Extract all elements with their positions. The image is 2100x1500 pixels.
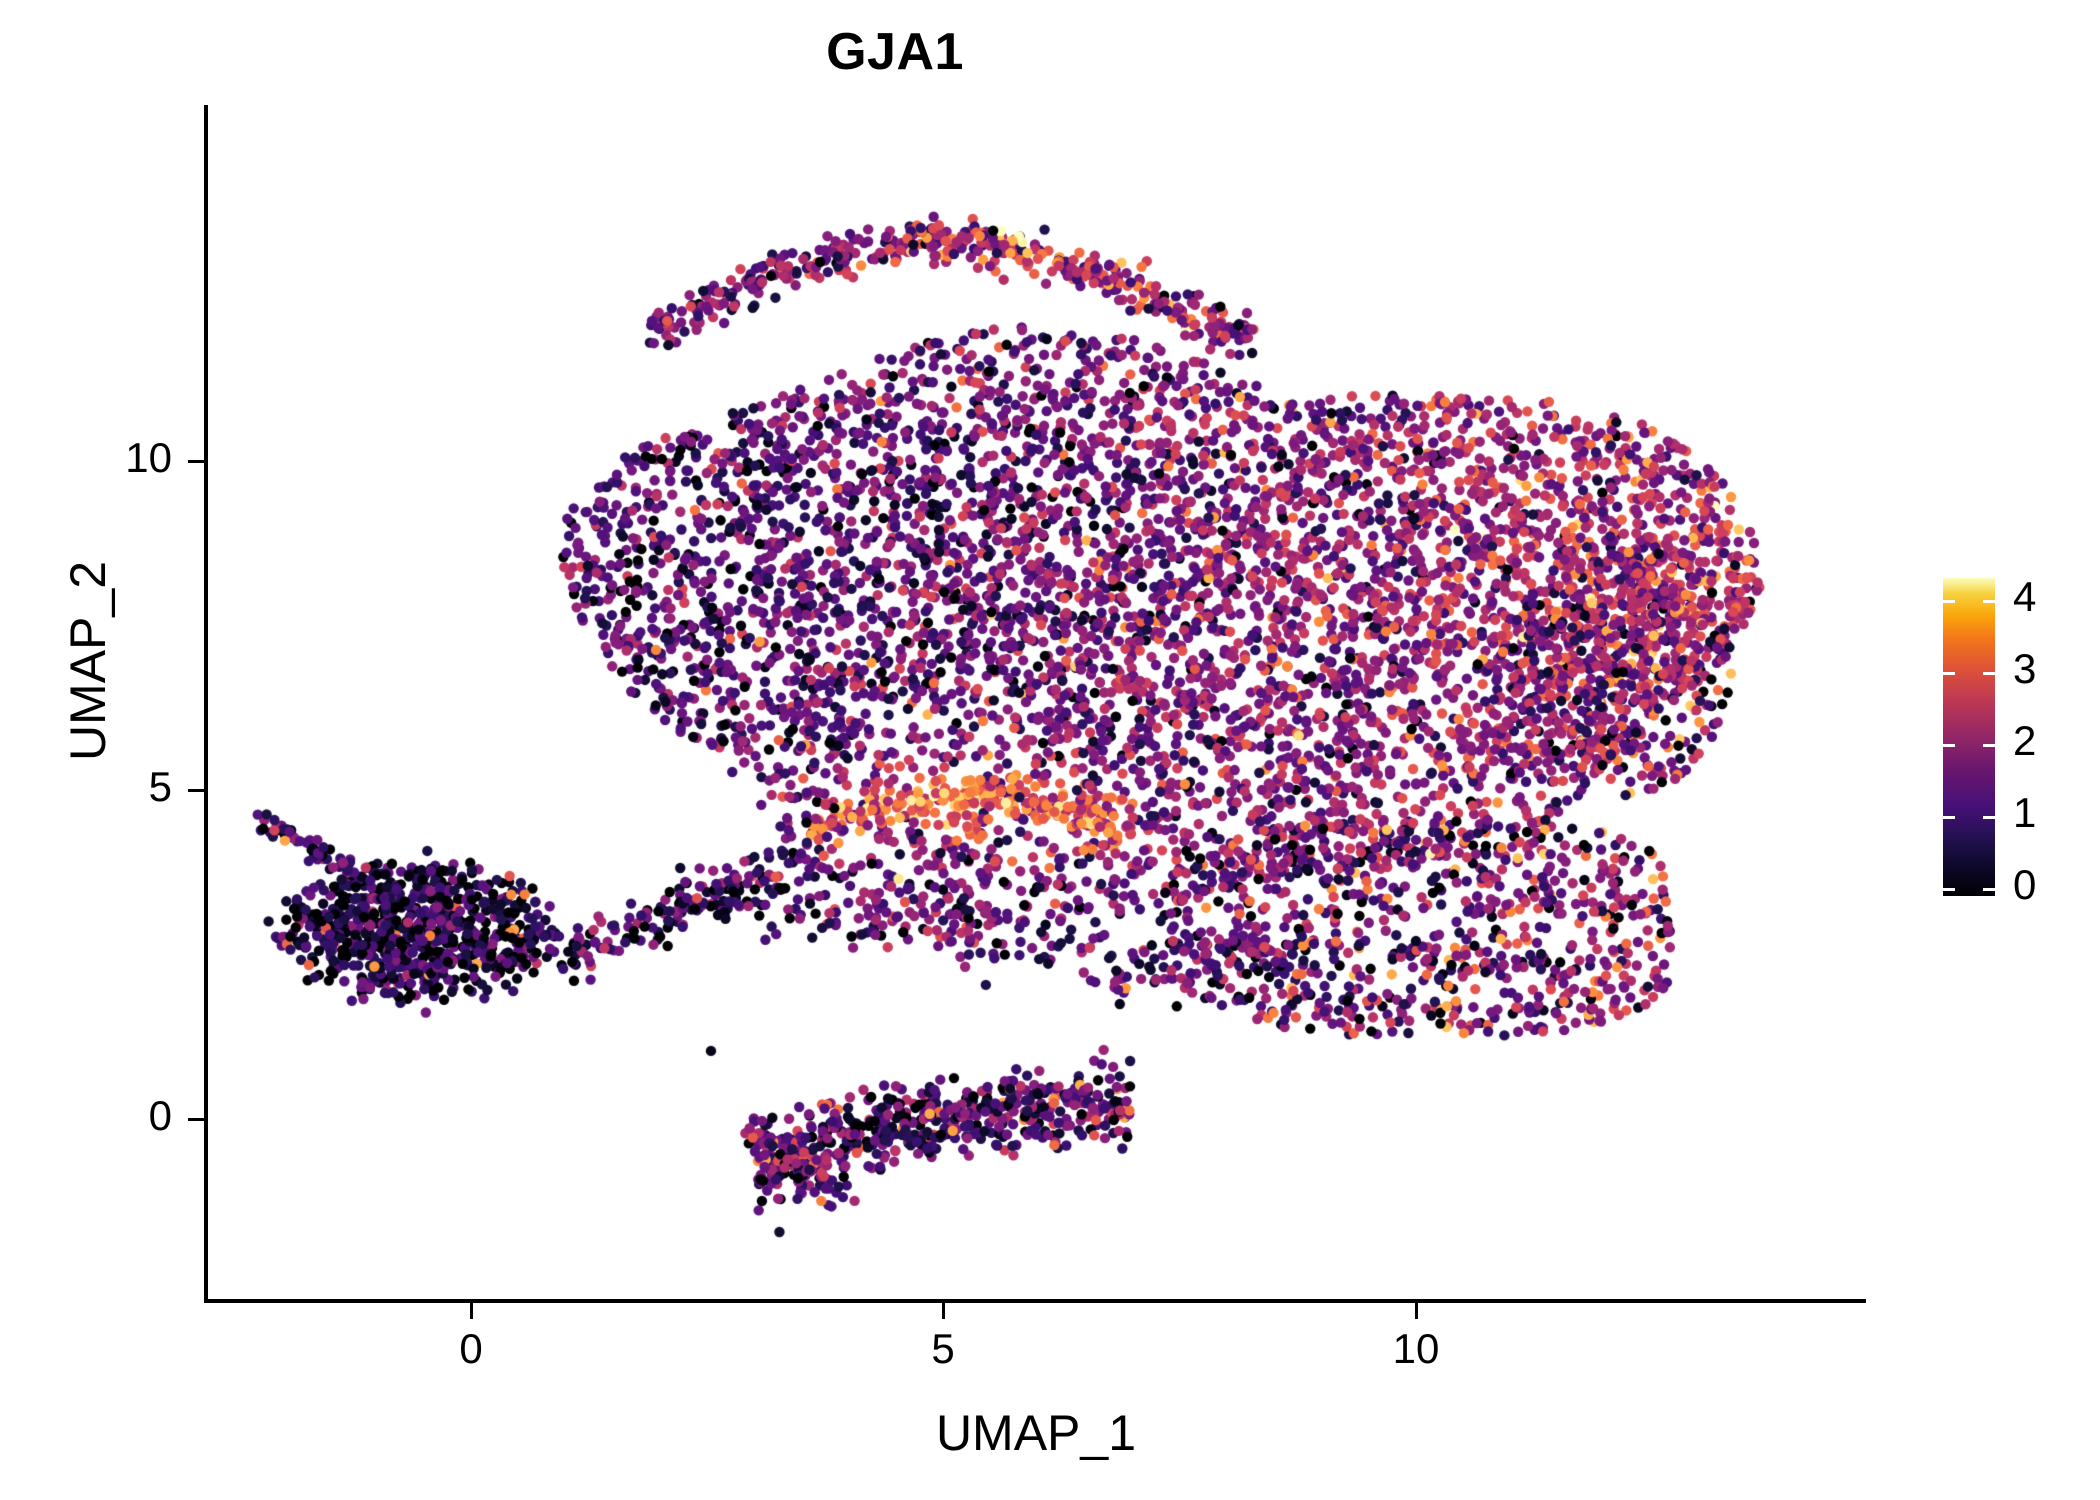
legend-label-4: 4 (2013, 576, 2036, 618)
scatter-canvas (206, 105, 1866, 1303)
legend-tick-3-left (1943, 672, 1955, 675)
x-tick-label-10: 10 (1356, 1325, 1476, 1373)
legend-tick-2-left (1943, 744, 1955, 747)
legend-tick-0-left (1943, 888, 1955, 891)
legend-label-2: 2 (2013, 720, 2036, 762)
x-tick-mark-10 (1415, 1303, 1418, 1319)
legend-tick-4-right (1983, 600, 1995, 603)
legend-tick-4-left (1943, 600, 1955, 603)
legend-label-3: 3 (2013, 648, 2036, 690)
legend-tick-1-right (1983, 816, 1995, 819)
y-tick-mark-5 (188, 789, 204, 792)
legend-label-1: 1 (2013, 792, 2036, 834)
x-tick-mark-5 (942, 1303, 945, 1319)
y-tick-mark-10 (188, 460, 204, 463)
page-title: GJA1 (0, 22, 1790, 82)
legend-tick-0-right (1983, 888, 1995, 891)
legend-tick-2-right (1983, 744, 1995, 747)
legend-tick-1-left (1943, 816, 1955, 819)
x-tick-label-5: 5 (883, 1325, 1003, 1373)
x-tick-label-0: 0 (411, 1325, 531, 1373)
legend-tick-3-right (1983, 672, 1995, 675)
colorbar-gradient (1943, 578, 1995, 896)
plot-panel (206, 105, 1866, 1303)
x-axis-label: UMAP_1 (206, 1404, 1866, 1462)
scatter-layer (206, 105, 1866, 1303)
y-tick-mark-0 (188, 1118, 204, 1121)
y-tick-label-0: 0 (32, 1092, 172, 1140)
umap-feature-plot: GJA1 0 5 10 10 5 0 UMAP_1 UMAP_2 4 3 2 1… (0, 0, 2100, 1500)
y-axis-label: UMAP_2 (59, 341, 117, 981)
color-legend: 4 3 2 1 0 (1943, 578, 1995, 896)
legend-label-0: 0 (2013, 864, 2036, 906)
x-tick-mark-0 (470, 1303, 473, 1319)
